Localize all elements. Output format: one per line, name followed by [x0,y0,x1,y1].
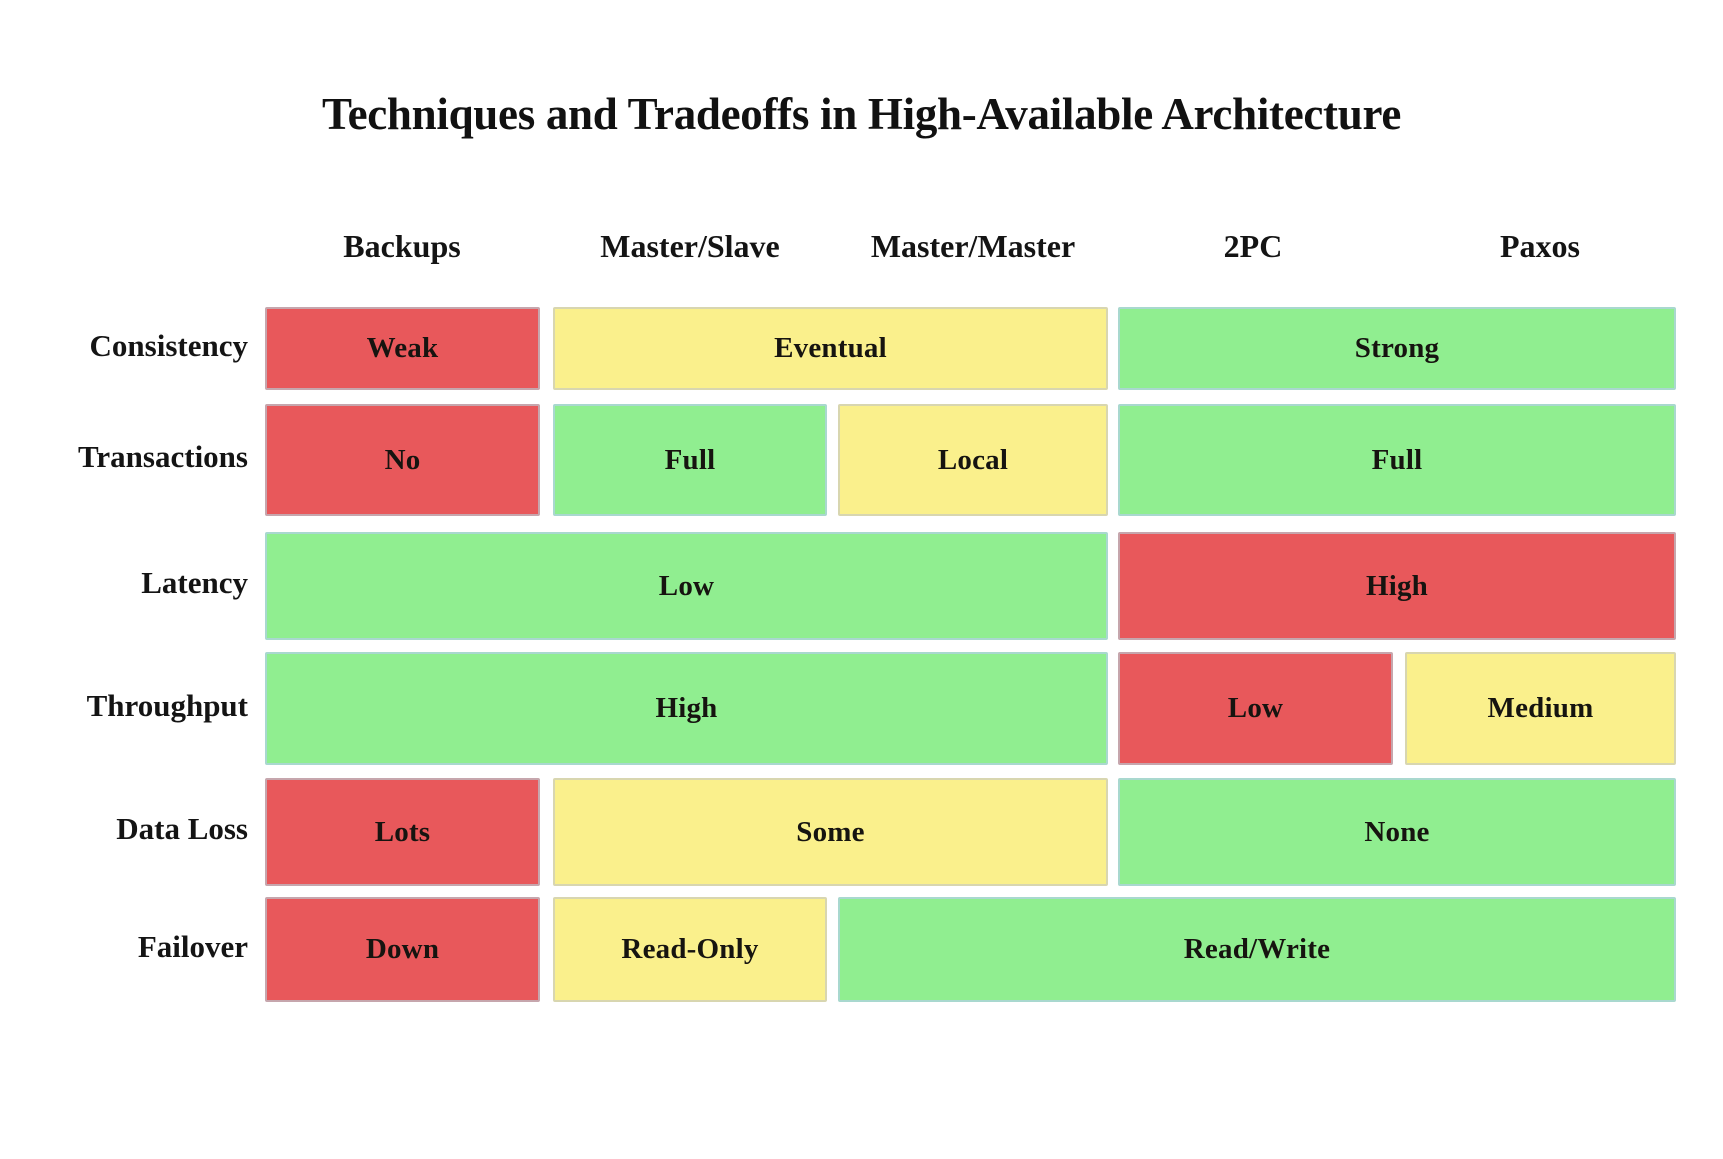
matrix-cell-label: Low [659,570,714,603]
matrix-cell[interactable]: Low [1118,652,1393,765]
matrix-cell-label: Lots [375,816,431,849]
matrix-cell-label: Eventual [774,332,887,365]
matrix-cell[interactable]: Full [553,404,827,516]
row-label-failover: Failover [0,929,248,965]
matrix-cell[interactable]: Local [838,404,1108,516]
matrix-cell-label: Down [366,933,439,966]
matrix-cell[interactable]: Full [1118,404,1676,516]
matrix-cell-label: Low [1228,692,1283,725]
matrix-cell[interactable]: High [265,652,1108,765]
matrix-cell[interactable]: No [265,404,540,516]
page-root: Techniques and Tradeoffs in High-Availab… [0,0,1723,1159]
matrix-cell-label: No [385,444,421,477]
row-label-consistency: Consistency [0,328,248,364]
matrix-cell-label: None [1364,816,1429,849]
matrix-cell-label: Read/Write [1184,933,1330,966]
matrix-cell[interactable]: Low [265,532,1108,640]
matrix-cell-label: Full [1372,444,1423,477]
matrix-cell-label: Local [938,444,1008,477]
matrix-cell[interactable]: Read/Write [838,897,1676,1002]
matrix-cell-label: High [655,692,717,725]
row-label-latency: Latency [0,565,248,601]
matrix-cell[interactable]: Down [265,897,540,1002]
matrix-cell[interactable]: Medium [1405,652,1676,765]
matrix-cell[interactable]: High [1118,532,1676,640]
matrix-cell-label: Some [796,816,864,849]
tradeoff-matrix: BackupsMaster/SlaveMaster/Master2PCPaxos… [0,0,1723,1159]
matrix-cell[interactable]: Lots [265,778,540,886]
matrix-cell[interactable]: None [1118,778,1676,886]
column-header-paxos: Paxos [1340,228,1723,265]
row-label-data-loss: Data Loss [0,811,248,847]
row-label-throughput: Throughput [0,688,248,724]
matrix-cell-label: Medium [1488,692,1594,725]
row-label-transactions: Transactions [0,439,248,475]
matrix-cell[interactable]: Eventual [553,307,1108,390]
matrix-cell-label: Weak [367,332,439,365]
matrix-cell[interactable]: Strong [1118,307,1676,390]
matrix-cell[interactable]: Weak [265,307,540,390]
matrix-cell-label: Strong [1355,332,1439,365]
matrix-cell[interactable]: Read-Only [553,897,827,1002]
matrix-cell-label: High [1366,570,1428,603]
matrix-cell-label: Read-Only [621,933,758,966]
matrix-cell[interactable]: Some [553,778,1108,886]
matrix-cell-label: Full [665,444,716,477]
